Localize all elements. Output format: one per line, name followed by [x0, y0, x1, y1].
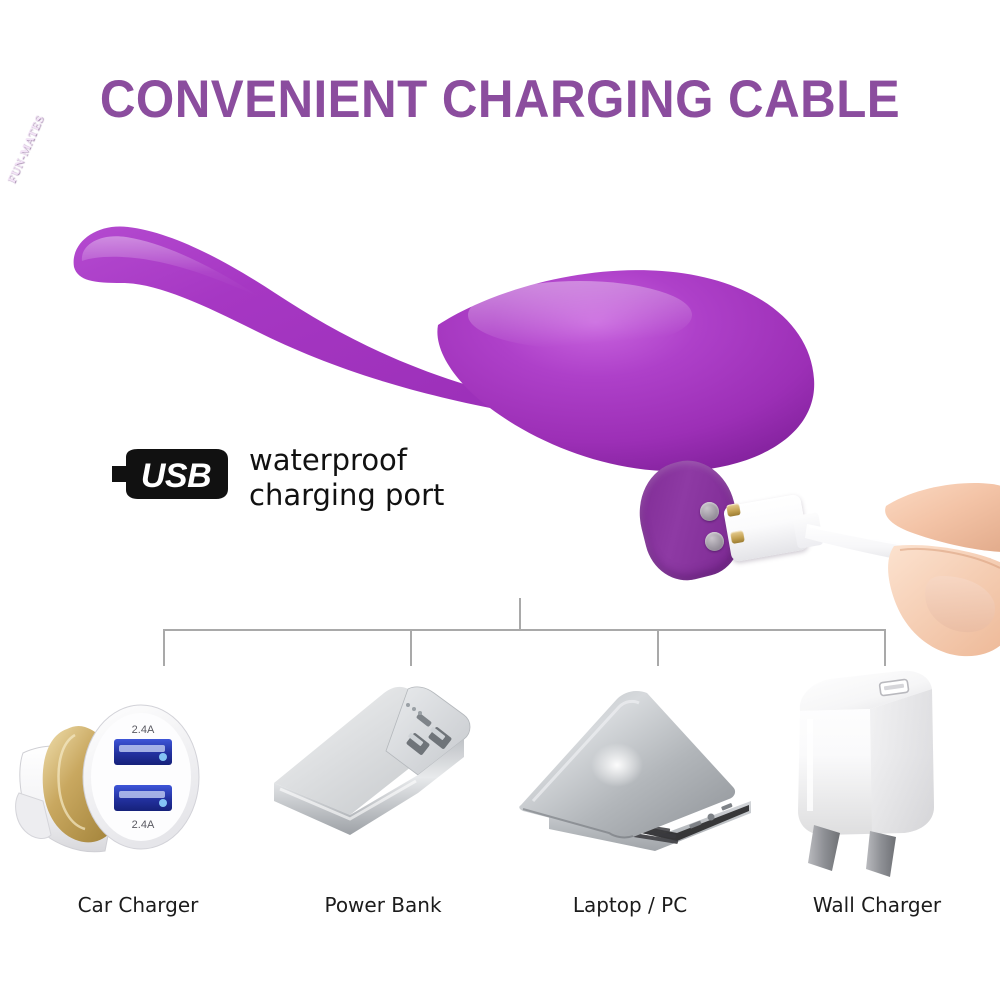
car-charger-icon: 2.4A 2.4A — [13, 665, 263, 883]
device-label-laptop: Laptop / PC — [505, 893, 755, 917]
page-title: CONVENIENT CHARGING CABLE — [35, 72, 965, 128]
wall-charger-icon — [752, 665, 1000, 883]
device-laptop: Laptop / PC — [505, 665, 755, 935]
device-power-bank: Power Bank — [258, 665, 508, 935]
compatibility-bracket — [150, 596, 900, 672]
car-charger-port-label-top: 2.4A — [132, 724, 155, 736]
product-body — [430, 255, 820, 475]
laptop-icon — [505, 665, 755, 883]
product-hero-image: FUN-MATES — [0, 150, 1000, 570]
usb-caption-line-2: charging port — [249, 478, 444, 513]
usb-icon: USB — [112, 449, 234, 499]
device-label-power-bank: Power Bank — [258, 893, 508, 917]
power-bank-icon — [258, 665, 508, 883]
product-brand-label: FUN-MATES — [6, 92, 56, 185]
indicator-light-bottom — [705, 532, 724, 551]
device-label-wall-charger: Wall Charger — [752, 893, 1000, 917]
device-wall-charger: Wall Charger — [752, 665, 1000, 935]
product-marketing-image: CONVENIENT CHARGING CABLE — [0, 0, 1000, 1000]
charging-pin-bottom — [730, 530, 745, 544]
device-car-charger: 2.4A 2.4A Car Charger — [13, 665, 263, 935]
device-label-car-charger: Car Charger — [13, 893, 263, 917]
usb-caption: waterproof charging port — [249, 443, 444, 513]
compatible-devices-row: 2.4A 2.4A Car Charger — [0, 665, 1000, 935]
svg-text:USB: USB — [141, 457, 211, 495]
indicator-light-top — [700, 502, 719, 521]
car-charger-port-label-bottom: 2.4A — [132, 819, 155, 831]
charging-pin-top — [726, 503, 741, 517]
usb-caption-line-1: waterproof — [249, 443, 444, 478]
